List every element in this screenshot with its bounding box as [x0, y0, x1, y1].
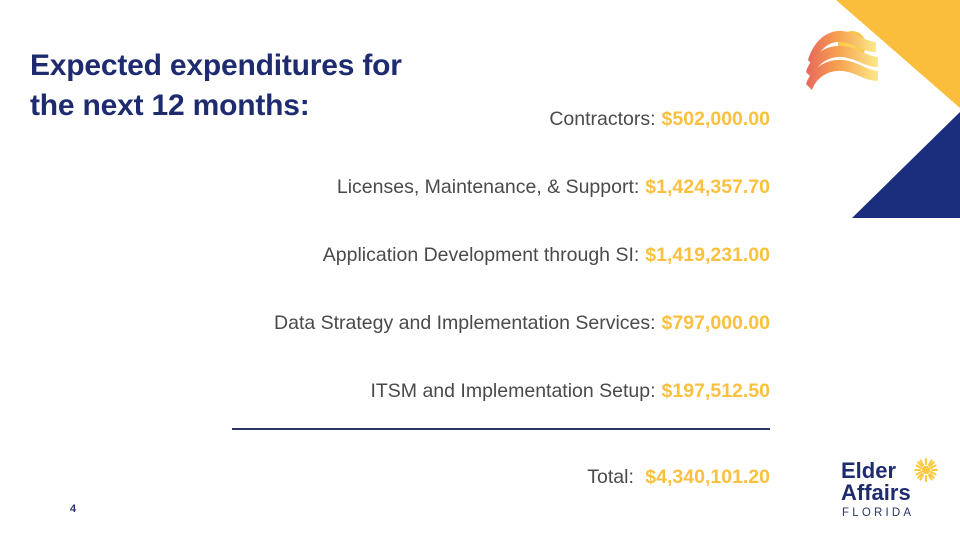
sunburst-icon: [915, 459, 937, 481]
total-label: Total:: [587, 466, 634, 488]
wave-swoosh-icon: [806, 31, 878, 90]
expenditure-label: ITSM and Implementation Setup:: [370, 382, 655, 402]
expenditure-label: Application Development through SI:: [323, 246, 640, 266]
logo-line-2: Affairs: [841, 480, 911, 505]
list-item: Application Development through SI: $1,4…: [120, 222, 770, 290]
expenditure-label: Contractors:: [549, 110, 655, 130]
expenditure-value: $197,512.50: [662, 382, 770, 402]
logo-line-3: FLORIDA: [842, 507, 914, 519]
sun-burst-icon: [838, 31, 866, 59]
decorative-corner-graphic: [790, 0, 960, 230]
expenditure-value: $797,000.00: [662, 314, 770, 334]
expenditure-label: Data Strategy and Implementation Service…: [274, 314, 656, 334]
brand-logo: Elder Affairs FLORIDA: [838, 454, 948, 528]
total-row: Total: $4,340,101.20: [120, 466, 770, 489]
page-number: 4: [70, 503, 76, 515]
expenditure-value: $502,000.00: [662, 110, 770, 130]
list-item: Data Strategy and Implementation Service…: [120, 290, 770, 358]
expenditure-label: Licenses, Maintenance, & Support:: [337, 178, 639, 198]
list-item: Licenses, Maintenance, & Support: $1,424…: [120, 154, 770, 222]
list-item: ITSM and Implementation Setup: $197,512.…: [120, 358, 770, 426]
list-item: Contractors: $502,000.00: [120, 86, 770, 154]
total-value: $4,340,101.20: [645, 466, 770, 488]
expenditure-list: Contractors: $502,000.00 Licenses, Maint…: [120, 86, 770, 426]
expenditure-value: $1,424,357.70: [645, 178, 770, 198]
yellow-triangle-shape: [836, 0, 960, 108]
navy-triangle-shape: [852, 112, 960, 218]
total-divider: [232, 428, 770, 430]
expenditure-value: $1,419,231.00: [645, 246, 770, 266]
